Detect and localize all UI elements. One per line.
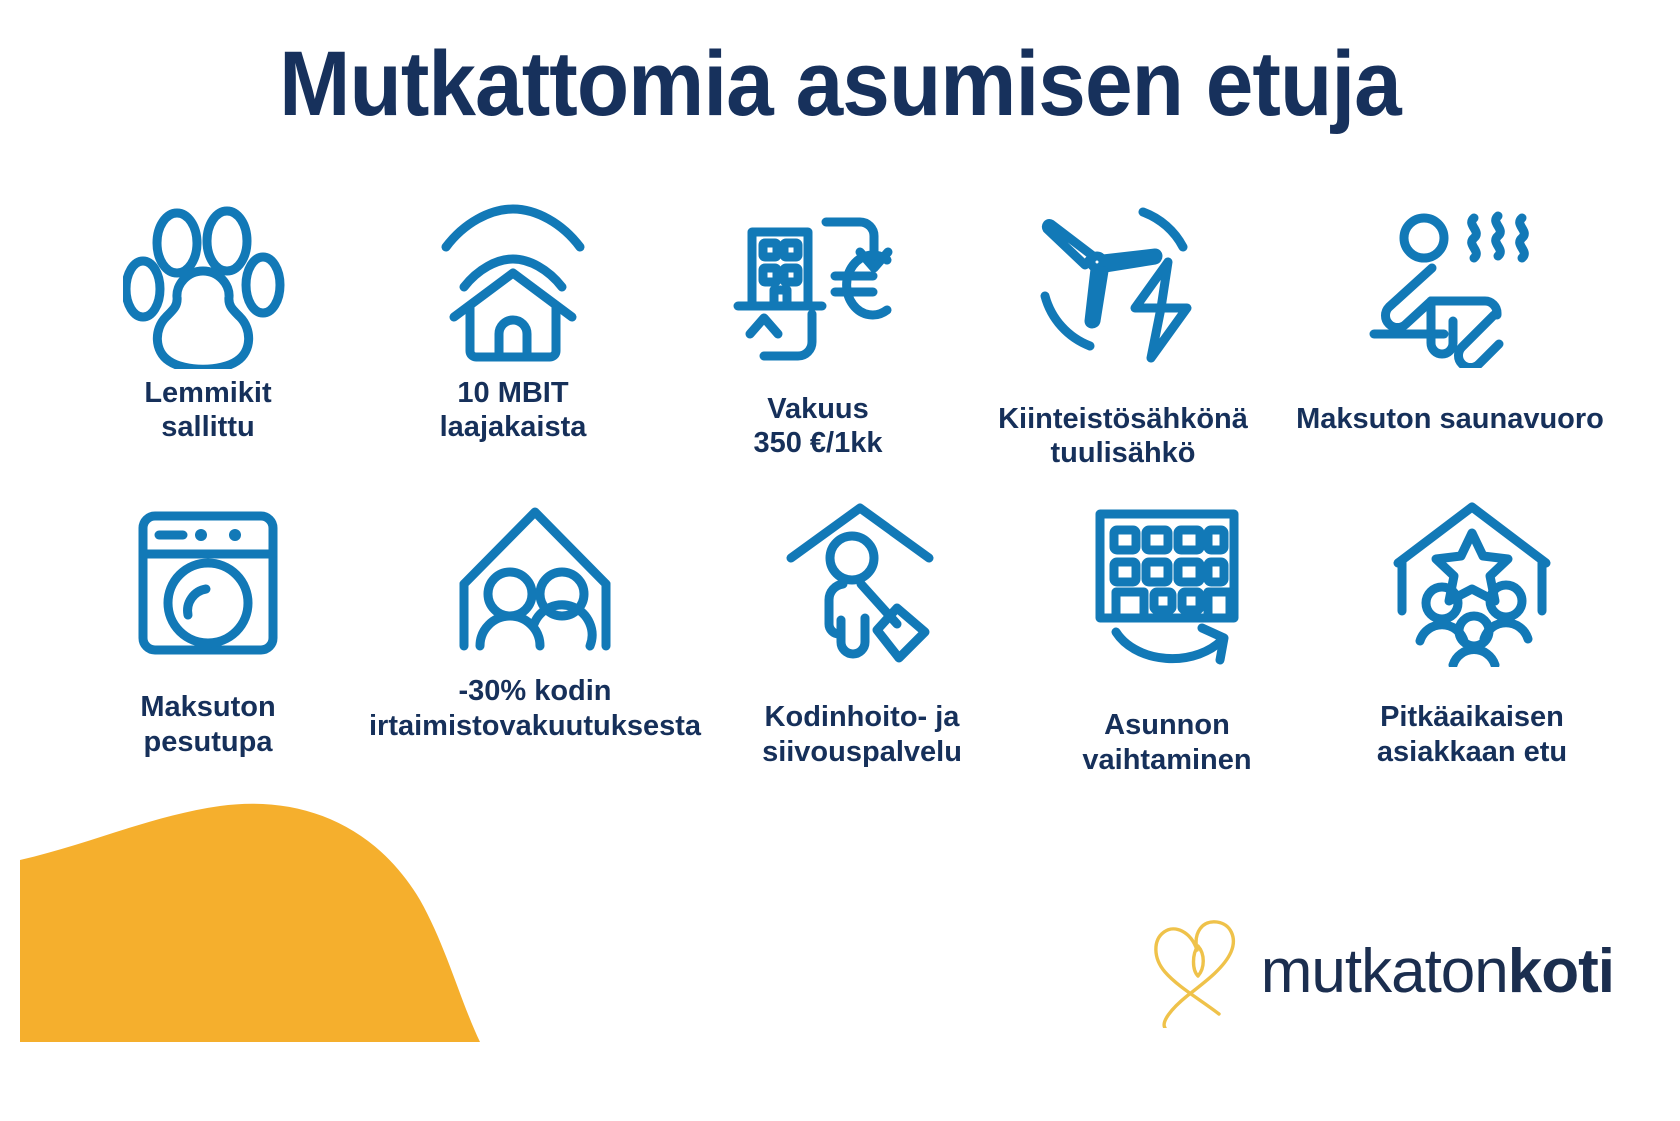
benefits-grid: Lemmikit sallittu 10 MBIT laajakaista	[60, 196, 1620, 777]
benefit-item-loyalty: Pitkäaikaisen asiakkaan etu	[1324, 494, 1620, 768]
benefit-label: -30% kodin irtaimistovakuutuksesta	[369, 674, 701, 742]
page-title: Mutkattomia asumisen etuja	[59, 36, 1621, 133]
apartment-swap-icon	[1082, 494, 1252, 672]
benefit-item-broadband: 10 MBIT laajakaista	[365, 196, 661, 444]
benefit-label: Asunnon vaihtaminen	[1082, 708, 1251, 776]
benefit-label: 10 MBIT laajakaista	[440, 376, 587, 444]
logo-wordmark: mutkatonkoti	[1261, 941, 1614, 1003]
sauna-person-icon	[1362, 196, 1538, 374]
infographic-canvas: Mutkattomia asumisen etuja Lemmikit sall…	[0, 0, 1680, 1121]
benefits-row-1: Lemmikit sallittu 10 MBIT laajakaista	[60, 196, 1620, 470]
heart-icon	[1151, 910, 1243, 1033]
benefit-item-laundry: Maksuton pesutupa	[60, 494, 356, 758]
benefits-row-2: Maksuton pesutupa -30% kodin irtaimisto	[60, 494, 1620, 776]
benefit-label: Kodinhoito- ja siivouspalvelu	[762, 700, 962, 768]
benefit-item-cleaning: Kodinhoito- ja siivouspalvelu	[714, 494, 1010, 768]
benefit-item-insurance: -30% kodin irtaimistovakuutuksesta	[365, 494, 705, 742]
house-people-icon	[450, 494, 620, 672]
benefit-label: Maksuton saunavuoro	[1296, 402, 1604, 436]
benefit-item-deposit: Vakuus 350 €/1kk	[670, 196, 966, 460]
house-star-family-icon	[1384, 494, 1560, 672]
benefit-label: Pitkäaikaisen asiakkaan etu	[1377, 700, 1567, 768]
building-euro-icon	[730, 196, 906, 374]
cleaning-person-icon	[777, 494, 947, 672]
benefit-label: Kiinteistösähkönä tuulisähkö	[998, 402, 1248, 470]
benefit-item-wind-power: Kiinteistösähkönä tuulisähkö	[975, 196, 1271, 470]
logo-word-koti: koti	[1508, 937, 1614, 1006]
washing-machine-icon	[125, 494, 291, 672]
benefit-label: Lemmikit sallittu	[144, 376, 271, 444]
paw-print-icon	[123, 196, 293, 374]
benefit-item-sauna: Maksuton saunavuoro	[1280, 196, 1620, 436]
benefit-item-pets: Lemmikit sallittu	[60, 196, 356, 444]
orange-decorative-shape	[0, 800, 520, 1060]
benefit-item-apartment-swap: Asunnon vaihtaminen	[1019, 494, 1315, 776]
logo-word-mutkaton: mutkaton	[1261, 937, 1508, 1006]
wifi-house-icon	[428, 196, 598, 374]
wind-turbine-icon	[1035, 196, 1211, 374]
benefit-label: Maksuton pesutupa	[140, 690, 275, 758]
brand-logo: mutkatonkoti	[1151, 910, 1614, 1033]
benefit-label: Vakuus 350 €/1kk	[753, 392, 882, 460]
